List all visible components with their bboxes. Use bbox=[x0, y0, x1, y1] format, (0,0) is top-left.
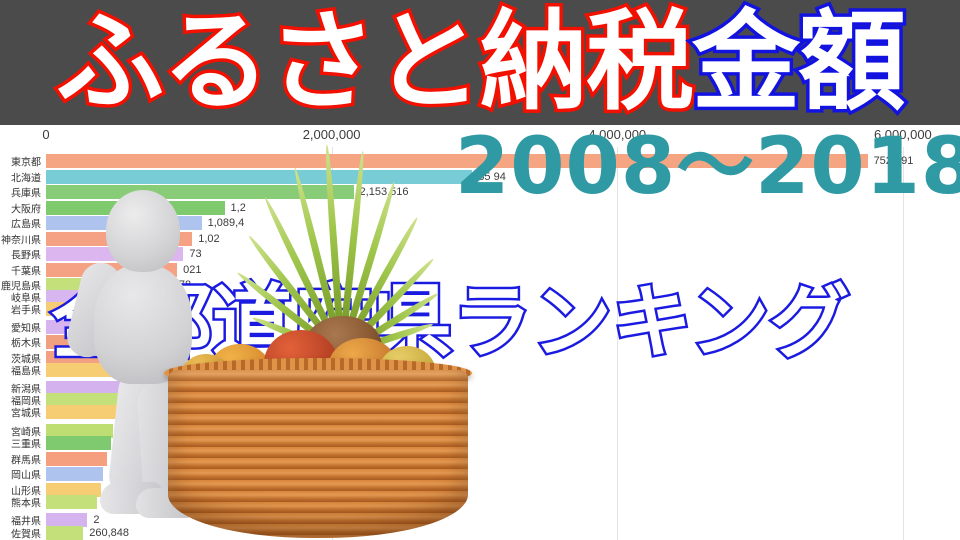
title-part-kingaku: 金額 bbox=[692, 9, 904, 117]
chart-category-label: 広島県 bbox=[11, 216, 41, 231]
chart-category-label: 佐賀県 bbox=[11, 525, 41, 540]
fruit-basket-decoration bbox=[168, 348, 468, 540]
chart-category-label: 長野県 bbox=[11, 247, 41, 262]
title-banner: ふるさと納税金額 bbox=[0, 0, 960, 125]
chart-category-label: 神奈川県 bbox=[1, 231, 41, 246]
chart-category-label: 福島県 bbox=[11, 362, 41, 377]
chart-category-label: 北海道 bbox=[11, 169, 41, 184]
chart-category-label: 岡山県 bbox=[11, 467, 41, 482]
chart-category-label: 三重県 bbox=[11, 436, 41, 451]
chart-category-label: 熊本県 bbox=[11, 494, 41, 509]
chart-category-label: 群馬県 bbox=[11, 451, 41, 466]
chart-category-label: 大阪府 bbox=[11, 200, 41, 215]
chart-category-label: 岩手県 bbox=[11, 302, 41, 317]
title-part-furusato-nozei: ふるさと納税 bbox=[56, 9, 692, 117]
chart-category-label: 宮城県 bbox=[11, 405, 41, 420]
x-axis-tick-label: 0 bbox=[42, 127, 49, 142]
year-range-label: 2008〜2018 bbox=[455, 128, 960, 206]
chart-category-label: 栃木県 bbox=[11, 335, 41, 350]
chart-bar bbox=[46, 526, 83, 540]
chart-category-label: 東京都 bbox=[11, 154, 41, 169]
thumbnail-canvas: ふるさと納税金額 02,000,0004,000,0006,000,000東京都… bbox=[0, 0, 960, 540]
chart-value-label: 260,848 bbox=[89, 527, 129, 539]
potted-plant-decoration bbox=[228, 122, 458, 372]
main-title: ふるさと納税金額 bbox=[0, 0, 960, 125]
chart-category-label: 愛知県 bbox=[11, 319, 41, 334]
chart-category-label: 兵庫県 bbox=[11, 185, 41, 200]
chart-category-label: 千葉県 bbox=[11, 262, 41, 277]
